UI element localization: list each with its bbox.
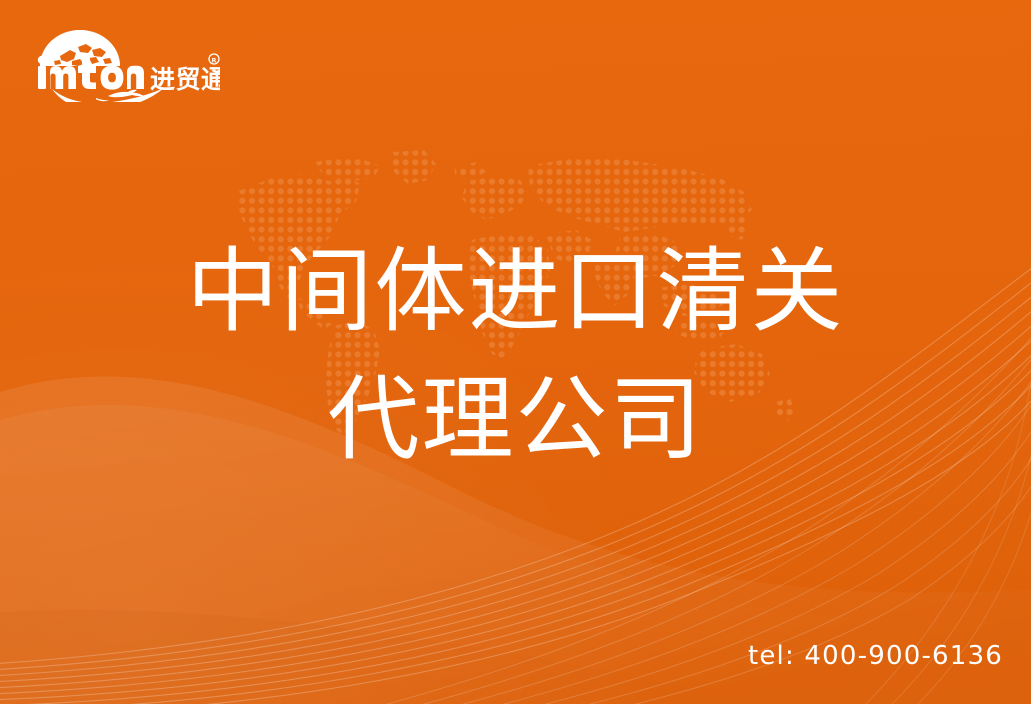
promo-banner: 进贸通 R 中间体进口清关 代理公司 tel: 400-900-6136 xyxy=(0,0,1031,704)
headline-line-1: 中间体进口清关 xyxy=(0,228,1031,356)
svg-text:R: R xyxy=(212,56,217,64)
headline-line-2: 代理公司 xyxy=(0,356,1031,484)
imton-logo[interactable]: 进贸通 R xyxy=(34,26,220,102)
contact-phone[interactable]: tel: 400-900-6136 xyxy=(748,641,1003,671)
page-title: 中间体进口清关 代理公司 xyxy=(0,228,1031,484)
